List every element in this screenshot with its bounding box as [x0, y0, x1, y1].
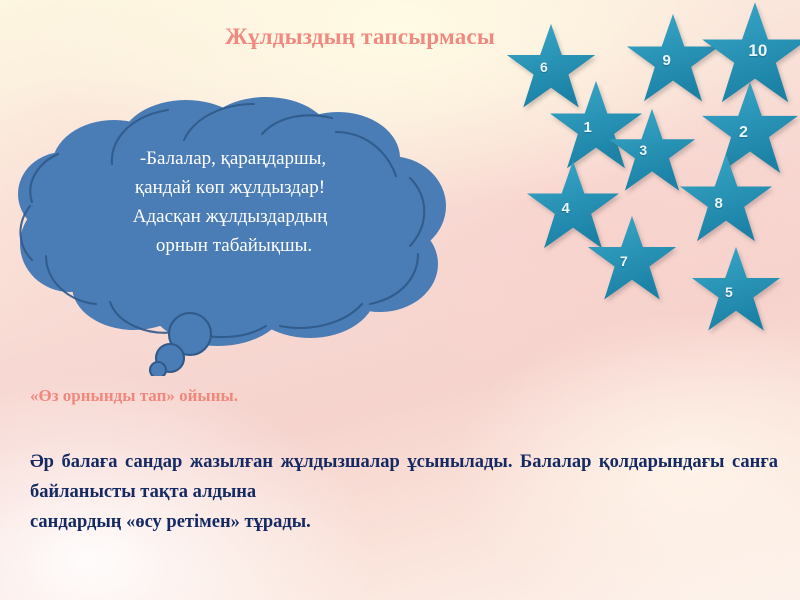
instructions-text: Әр балаға сандар жазылған жұлдызшалар ұс… [30, 447, 778, 537]
slide-canvas: Жұлдыздың тапсырмасы [0, 0, 800, 600]
bubble-line-2: қандай көп жұлдыздар! [70, 173, 390, 202]
instructions-paragraph-2: сандардың «өсу ретімен» тұрады. [30, 507, 778, 537]
star-8[interactable]: 8 [678, 152, 774, 248]
game-subtitle: «Өз орнынды тап» ойыны. [30, 386, 238, 406]
star-7[interactable]: 7 [586, 214, 678, 306]
star-5[interactable]: 5 [690, 245, 782, 337]
bubble-line-3: Адасқан жұлдыздардың [70, 202, 390, 231]
instructions-paragraph-1: Әр балаға сандар жазылған жұлдызшалар ұс… [30, 447, 778, 507]
thought-bubble-text: -Балалар, қараңдаршы, қандай көп жұлдызд… [70, 144, 390, 260]
thought-bubble: -Балалар, қараңдаршы, қандай көп жұлдызд… [18, 96, 448, 376]
bubble-line-4: орнын табайықшы. [70, 231, 390, 260]
bubble-line-1: -Балалар, қараңдаршы, [70, 144, 390, 173]
page-title: Жұлдыздың тапсырмасы [0, 24, 720, 50]
